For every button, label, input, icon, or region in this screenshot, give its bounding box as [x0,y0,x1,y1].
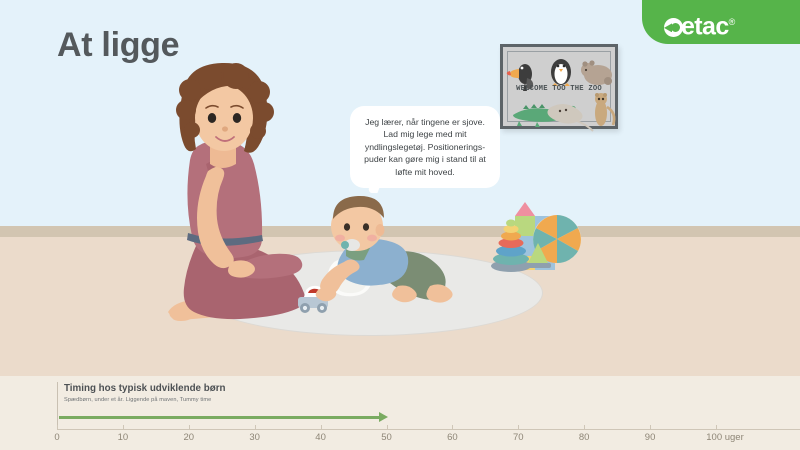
penguin-icon [551,59,571,86]
axis-tick-label: 60 [447,432,458,443]
mother-figure [168,63,305,321]
axis-tick-label: 40 [315,432,326,443]
axis-tick [321,425,322,430]
axis-tick [584,425,585,430]
axis-tick [518,425,519,430]
timeline-title: Timing hos typisk udviklende børn [64,383,226,394]
axis-tick-label: 90 [645,432,656,443]
meerkat-icon [595,93,614,126]
axis-tick-label: 30 [249,432,260,443]
axis-vertical-line [57,382,58,428]
slide-canvas: etac® At ligge [0,0,800,450]
zoo-poster: WELCOME TOO THE ZOO [500,44,618,129]
speech-bubble-text: Jeg lærer, når tingene er sjove. Lad mig… [359,116,491,178]
axis-tick [255,425,256,430]
axis-tick [650,425,651,430]
axis-tick [716,425,717,430]
baby-figure [316,196,453,303]
poster-caption: WELCOME TOO THE ZOO [503,85,615,93]
axis-tick-label: 10 [118,432,129,443]
axis-tick-label: 20 [184,432,195,443]
axis-tick [123,425,124,430]
toys-cluster [491,202,581,272]
stingray-icon [547,104,593,131]
axis-tick-label: 70 [513,432,524,443]
axis-tick [189,425,190,430]
axis-horizontal-line [57,429,800,430]
bear-icon [581,60,612,85]
axis-tick-label: 100 uger [706,432,744,443]
axis-tick [57,425,58,430]
timeline-bar [59,416,379,419]
axis-tick-label: 50 [381,432,392,443]
axis-tick [387,425,388,430]
axis-tick-label: 80 [579,432,590,443]
axis-tick [452,425,453,430]
timeline-subtitle: Spædbørn, under et år. Liggende på maven… [64,397,211,403]
timeline-bar-arrowhead [379,412,388,422]
speech-bubble: Jeg lærer, når tingene er sjove. Lad mig… [350,106,500,188]
axis-tick-label: 0 [54,432,59,443]
